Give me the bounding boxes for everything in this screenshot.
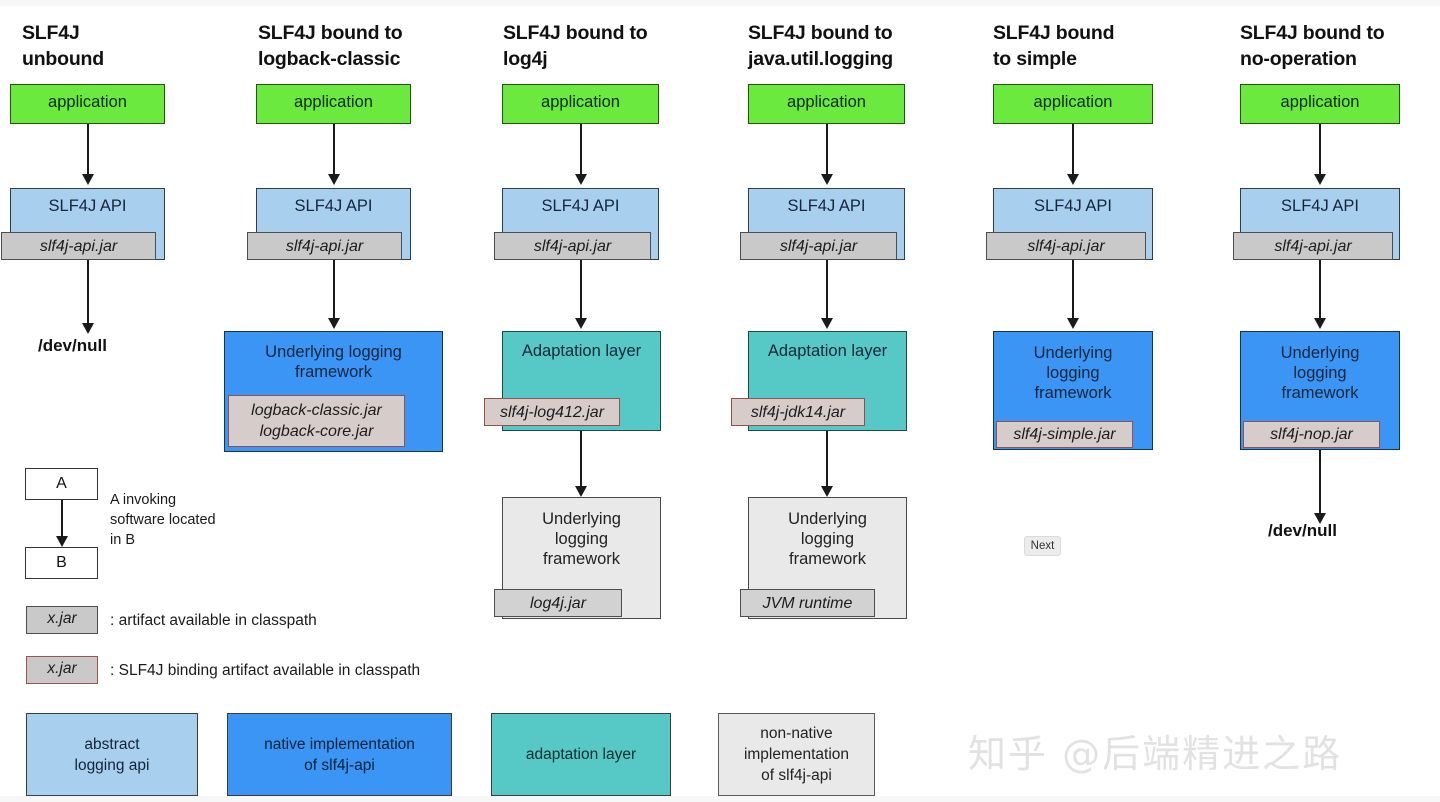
legend-desc-artifact: : artifact available in classpath [110,610,317,632]
node-application-col2[interactable]: application [256,84,411,124]
column-title-jul: SLF4J bound to java.util.logging [748,20,963,72]
node-label: application [257,85,410,112]
legend-box-a: A [25,468,98,500]
column-title-unbound: SLF4J unbound [22,20,222,72]
legend-chip-binding-artifact: x.jar [26,656,98,684]
column-title-log4j: SLF4J bound to log4j [503,20,703,72]
node-label: Underlying logging framework [994,332,1152,403]
bottom-edge-strip [0,796,1440,802]
jar-chip-slf4j-log4j-col3[interactable]: slf4j-log412.jar [484,398,620,426]
jar-chip-jvm-runtime-col4[interactable]: JVM runtime [740,589,875,617]
jar-chip-logback-col2[interactable]: logback-classic.jar logback-core.jar [228,395,405,447]
jar-chip-slf4j-api-col5[interactable]: slf4j-api.jar [986,232,1146,260]
node-label: application [11,85,164,112]
node-label: Underlying logging framework [225,332,442,382]
legend-swatch-native-impl: native implementation of slf4j-api [227,713,452,796]
jar-chip-slf4j-api-col4[interactable]: slf4j-api.jar [740,232,897,260]
top-edge-strip [0,0,1440,6]
node-label: SLF4J API [1241,189,1399,216]
node-application-col1[interactable]: application [10,84,165,124]
legend-swatch-non-native-impl: non-native implementation of slf4j-api [718,713,875,796]
column-title-simple: SLF4J bound to simple [993,20,1188,72]
jar-chip-slf4j-api-col1[interactable]: slf4j-api.jar [1,232,156,260]
column-title-logback: SLF4J bound to logback-classic [258,20,473,72]
node-application-col6[interactable]: application [1240,84,1400,124]
jar-chip-slf4j-jdk14-col4[interactable]: slf4j-jdk14.jar [731,398,865,426]
node-label: Adaptation layer [749,332,906,361]
terminal-devnull-col1: /dev/null [38,336,107,356]
jar-chip-slf4j-api-col3[interactable]: slf4j-api.jar [494,232,651,260]
jar-chip-log4j-col3[interactable]: log4j.jar [494,589,622,617]
node-label: SLF4J API [749,189,904,216]
node-label: application [1241,85,1399,112]
node-label: application [749,85,904,112]
node-label: application [994,85,1152,112]
legend-ab-description: A invoking software located in B [110,490,290,550]
next-button[interactable]: Next [1024,536,1061,556]
node-application-col3[interactable]: application [502,84,659,124]
node-label: application [503,85,658,112]
jar-chip-slf4j-api-col6[interactable]: slf4j-api.jar [1233,232,1393,260]
node-label: SLF4J API [503,189,658,216]
node-label: SLF4J API [994,189,1152,216]
jar-chip-slf4j-nop-col6[interactable]: slf4j-nop.jar [1243,421,1380,448]
legend-chip-artifact: x.jar [26,606,98,634]
jar-chip-slf4j-simple-col5[interactable]: slf4j-simple.jar [996,421,1133,448]
watermark-text: 知乎 @后端精进之路 [968,723,1342,778]
node-label: Underlying logging framework [1241,332,1399,403]
node-application-col5[interactable]: application [993,84,1153,124]
terminal-devnull-col6: /dev/null [1268,521,1337,541]
diagram-canvas: SLF4J unbound SLF4J bound to logback-cla… [0,0,1440,802]
node-label: Underlying logging framework [749,498,906,569]
node-label: SLF4J API [257,189,410,216]
column-title-nop: SLF4J bound to no-operation [1240,20,1440,72]
legend-swatch-abstract-api: abstract logging api [26,713,198,796]
legend-swatch-adaptation-layer: adaptation layer [491,713,671,796]
node-label: Adaptation layer [503,332,660,361]
node-application-col4[interactable]: application [748,84,905,124]
jar-chip-slf4j-api-col2[interactable]: slf4j-api.jar [247,232,402,260]
legend-box-b: B [25,547,98,579]
legend-desc-binding-artifact: : SLF4J binding artifact available in cl… [110,660,420,682]
node-label: SLF4J API [11,189,164,216]
node-label: Underlying logging framework [503,498,660,569]
